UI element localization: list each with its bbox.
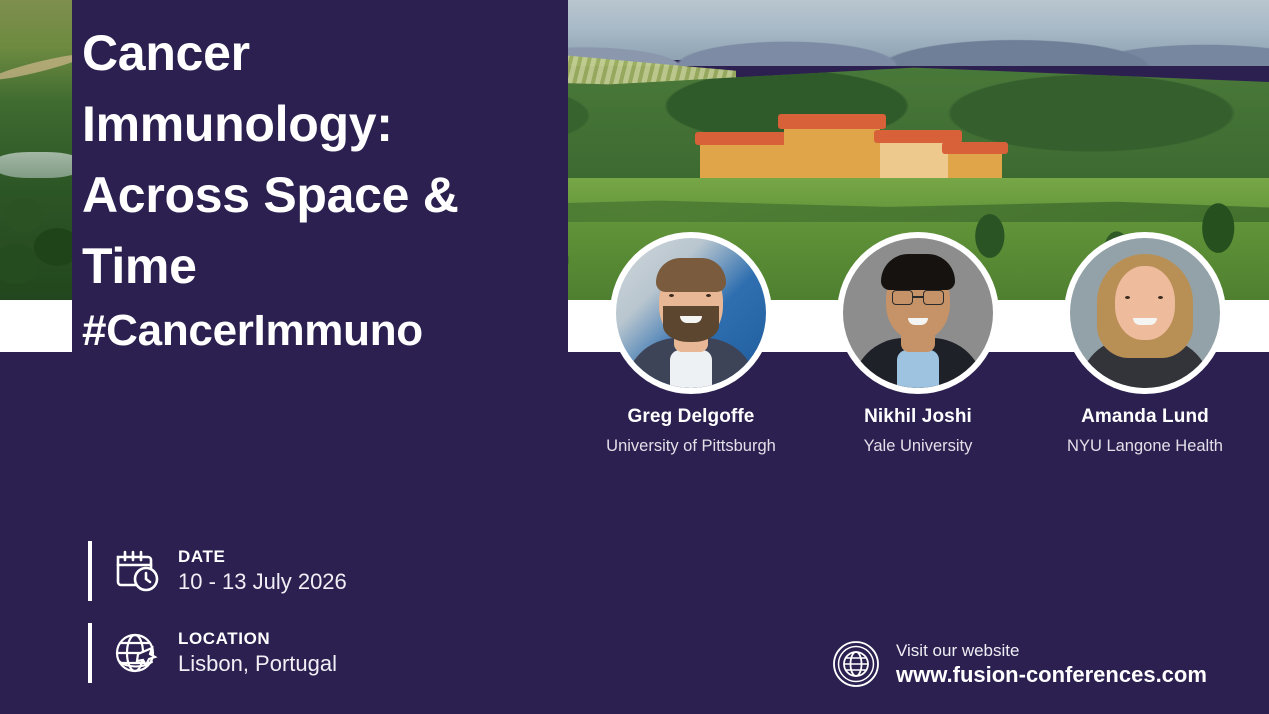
shrub (4, 198, 44, 232)
conference-title-line-4: Time (82, 231, 568, 302)
portrait-shirt (670, 350, 712, 388)
portrait-greg-delgoffe (616, 238, 766, 388)
portrait-ring (610, 232, 772, 394)
date-label: DATE (178, 547, 347, 567)
location-value: Lisbon, Portugal (178, 650, 337, 677)
portrait-amanda-lund (1070, 238, 1220, 388)
portrait-glasses (892, 290, 944, 305)
portrait-hair (656, 258, 726, 292)
portrait-hair (881, 254, 955, 290)
website-url[interactable]: www.fusion-conferences.com (896, 661, 1207, 688)
speaker-affiliation: University of Pittsburgh (571, 437, 811, 456)
speaker-name: Greg Delgoffe (571, 406, 811, 428)
location-info-block: LOCATION Lisbon, Portugal (88, 623, 337, 683)
portrait-eye-right (706, 294, 711, 297)
conference-title-line-3: Across Space & (82, 160, 568, 231)
portrait-ring (837, 232, 999, 394)
title-panel: Cancer Immunology: Across Space & Time (72, 0, 568, 302)
portrait-mouth (680, 316, 702, 323)
globe-airplane-icon (108, 625, 164, 681)
globe-circle-icon (830, 638, 882, 690)
date-text: DATE 10 - 13 July 2026 (178, 547, 347, 595)
location-text: LOCATION Lisbon, Portugal (178, 629, 337, 677)
shrub (34, 228, 72, 266)
portrait-face (1115, 266, 1175, 340)
portrait-ring (1064, 232, 1226, 394)
accent-bar (88, 623, 92, 683)
hill-path (0, 51, 72, 84)
portrait-shirt (897, 350, 939, 388)
conference-title-line-2: Immunology: (82, 89, 568, 160)
speaker-name: Nikhil Joshi (798, 406, 1038, 428)
website-text: Visit our website www.fusion-conferences… (896, 640, 1207, 688)
portrait-beard (663, 306, 719, 342)
conference-title-line-1: Cancer (82, 18, 568, 89)
portrait-eye-right (1158, 296, 1163, 299)
left-photo-strip (0, 0, 72, 302)
conference-hashtag: #CancerImmuno (82, 305, 423, 357)
water-feature (0, 152, 72, 178)
speaker-affiliation: NYU Langone Health (1025, 437, 1265, 456)
portrait-eye-left (1125, 296, 1130, 299)
speaker-card-greg-delgoffe: Greg Delgoffe University of Pittsburgh (571, 232, 811, 456)
website-footer[interactable]: Visit our website www.fusion-conferences… (830, 638, 1207, 690)
speaker-affiliation: Yale University (798, 437, 1038, 456)
website-prompt: Visit our website (896, 640, 1207, 661)
accent-bar (88, 541, 92, 601)
speaker-card-amanda-lund: Amanda Lund NYU Langone Health (1025, 232, 1265, 456)
speaker-name: Amanda Lund (1025, 406, 1265, 428)
date-info-block: DATE 10 - 13 July 2026 (88, 541, 347, 601)
speakers-row: Greg Delgoffe University of Pittsburgh N… (568, 232, 1269, 472)
date-value: 10 - 13 July 2026 (178, 568, 347, 595)
calendar-clock-icon (108, 543, 164, 599)
speaker-card-nikhil-joshi: Nikhil Joshi Yale University (798, 232, 1038, 456)
portrait-eye-left (669, 294, 674, 297)
shrub (0, 244, 38, 284)
portrait-nikhil-joshi (843, 238, 993, 388)
location-label: LOCATION (178, 629, 337, 649)
portrait-mouth (1133, 318, 1157, 325)
